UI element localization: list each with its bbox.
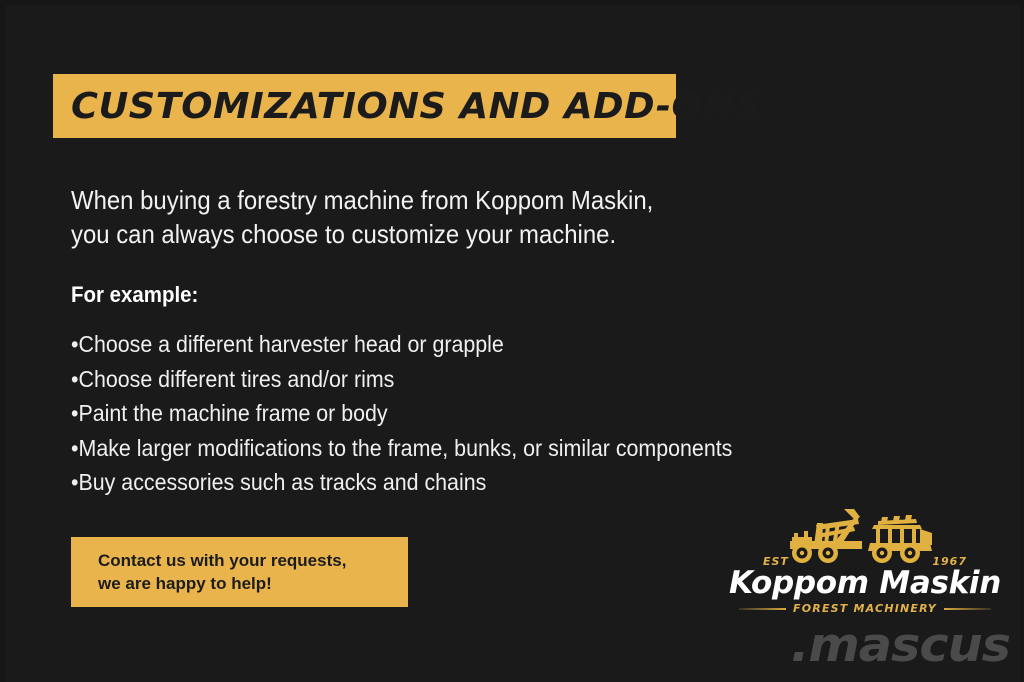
logo-divider-left bbox=[739, 608, 786, 610]
logo-tagline-row: FOREST MACHINERY bbox=[729, 602, 1001, 615]
intro-line-2: you can always choose to customize your … bbox=[71, 217, 715, 251]
contact-cta-line-2: we are happy to help! bbox=[98, 572, 408, 595]
page-title: CUSTOMIZATIONS AND ADD-ONS bbox=[71, 86, 761, 127]
contact-cta-line-1: Contact us with your requests, bbox=[98, 549, 408, 572]
title-banner: CUSTOMIZATIONS AND ADD-ONS bbox=[53, 74, 676, 138]
forestry-forwarder-icon bbox=[770, 503, 960, 565]
list-item: •Buy accessories such as tracks and chai… bbox=[71, 465, 778, 500]
customization-list: •Choose a different harvester head or gr… bbox=[71, 327, 778, 500]
list-item-label: Paint the machine frame or body bbox=[78, 400, 387, 426]
list-item-label: Buy accessories such as tracks and chain… bbox=[78, 469, 486, 495]
bullet-marker: • bbox=[71, 331, 78, 357]
mascus-watermark: .mascus bbox=[745, 618, 1010, 673]
list-item: •Choose different tires and/or rims bbox=[71, 362, 778, 397]
intro-line-1: When buying a forestry machine from Kopp… bbox=[71, 183, 715, 217]
list-item-label: Make larger modifications to the frame, … bbox=[78, 435, 732, 461]
list-item: •Choose a different harvester head or gr… bbox=[71, 327, 778, 362]
logo-tagline: FOREST MACHINERY bbox=[793, 602, 937, 615]
list-item: •Make larger modifications to the frame,… bbox=[71, 431, 778, 466]
koppom-maskin-logo: EST 1967 Koppom Maskin FOREST MACHINERY bbox=[729, 503, 1001, 615]
bullet-marker: • bbox=[71, 435, 78, 461]
logo-brand-name: Koppom Maskin bbox=[729, 565, 1001, 601]
bullet-marker: • bbox=[71, 469, 78, 495]
logo-divider-right bbox=[944, 608, 991, 610]
for-example-heading: For example: bbox=[71, 282, 198, 308]
bullet-marker: • bbox=[71, 400, 78, 426]
intro-paragraph: When buying a forestry machine from Kopp… bbox=[71, 183, 715, 251]
advertisement-page: CUSTOMIZATIONS AND ADD-ONS When buying a… bbox=[0, 0, 1024, 682]
list-item-label: Choose different tires and/or rims bbox=[78, 366, 394, 392]
list-item: •Paint the machine frame or body bbox=[71, 396, 778, 431]
bullet-marker: • bbox=[71, 366, 78, 392]
content-panel: CUSTOMIZATIONS AND ADD-ONS When buying a… bbox=[6, 5, 1020, 682]
list-item-label: Choose a different harvester head or gra… bbox=[78, 331, 503, 357]
contact-cta-box[interactable]: Contact us with your requests, we are ha… bbox=[71, 537, 408, 607]
